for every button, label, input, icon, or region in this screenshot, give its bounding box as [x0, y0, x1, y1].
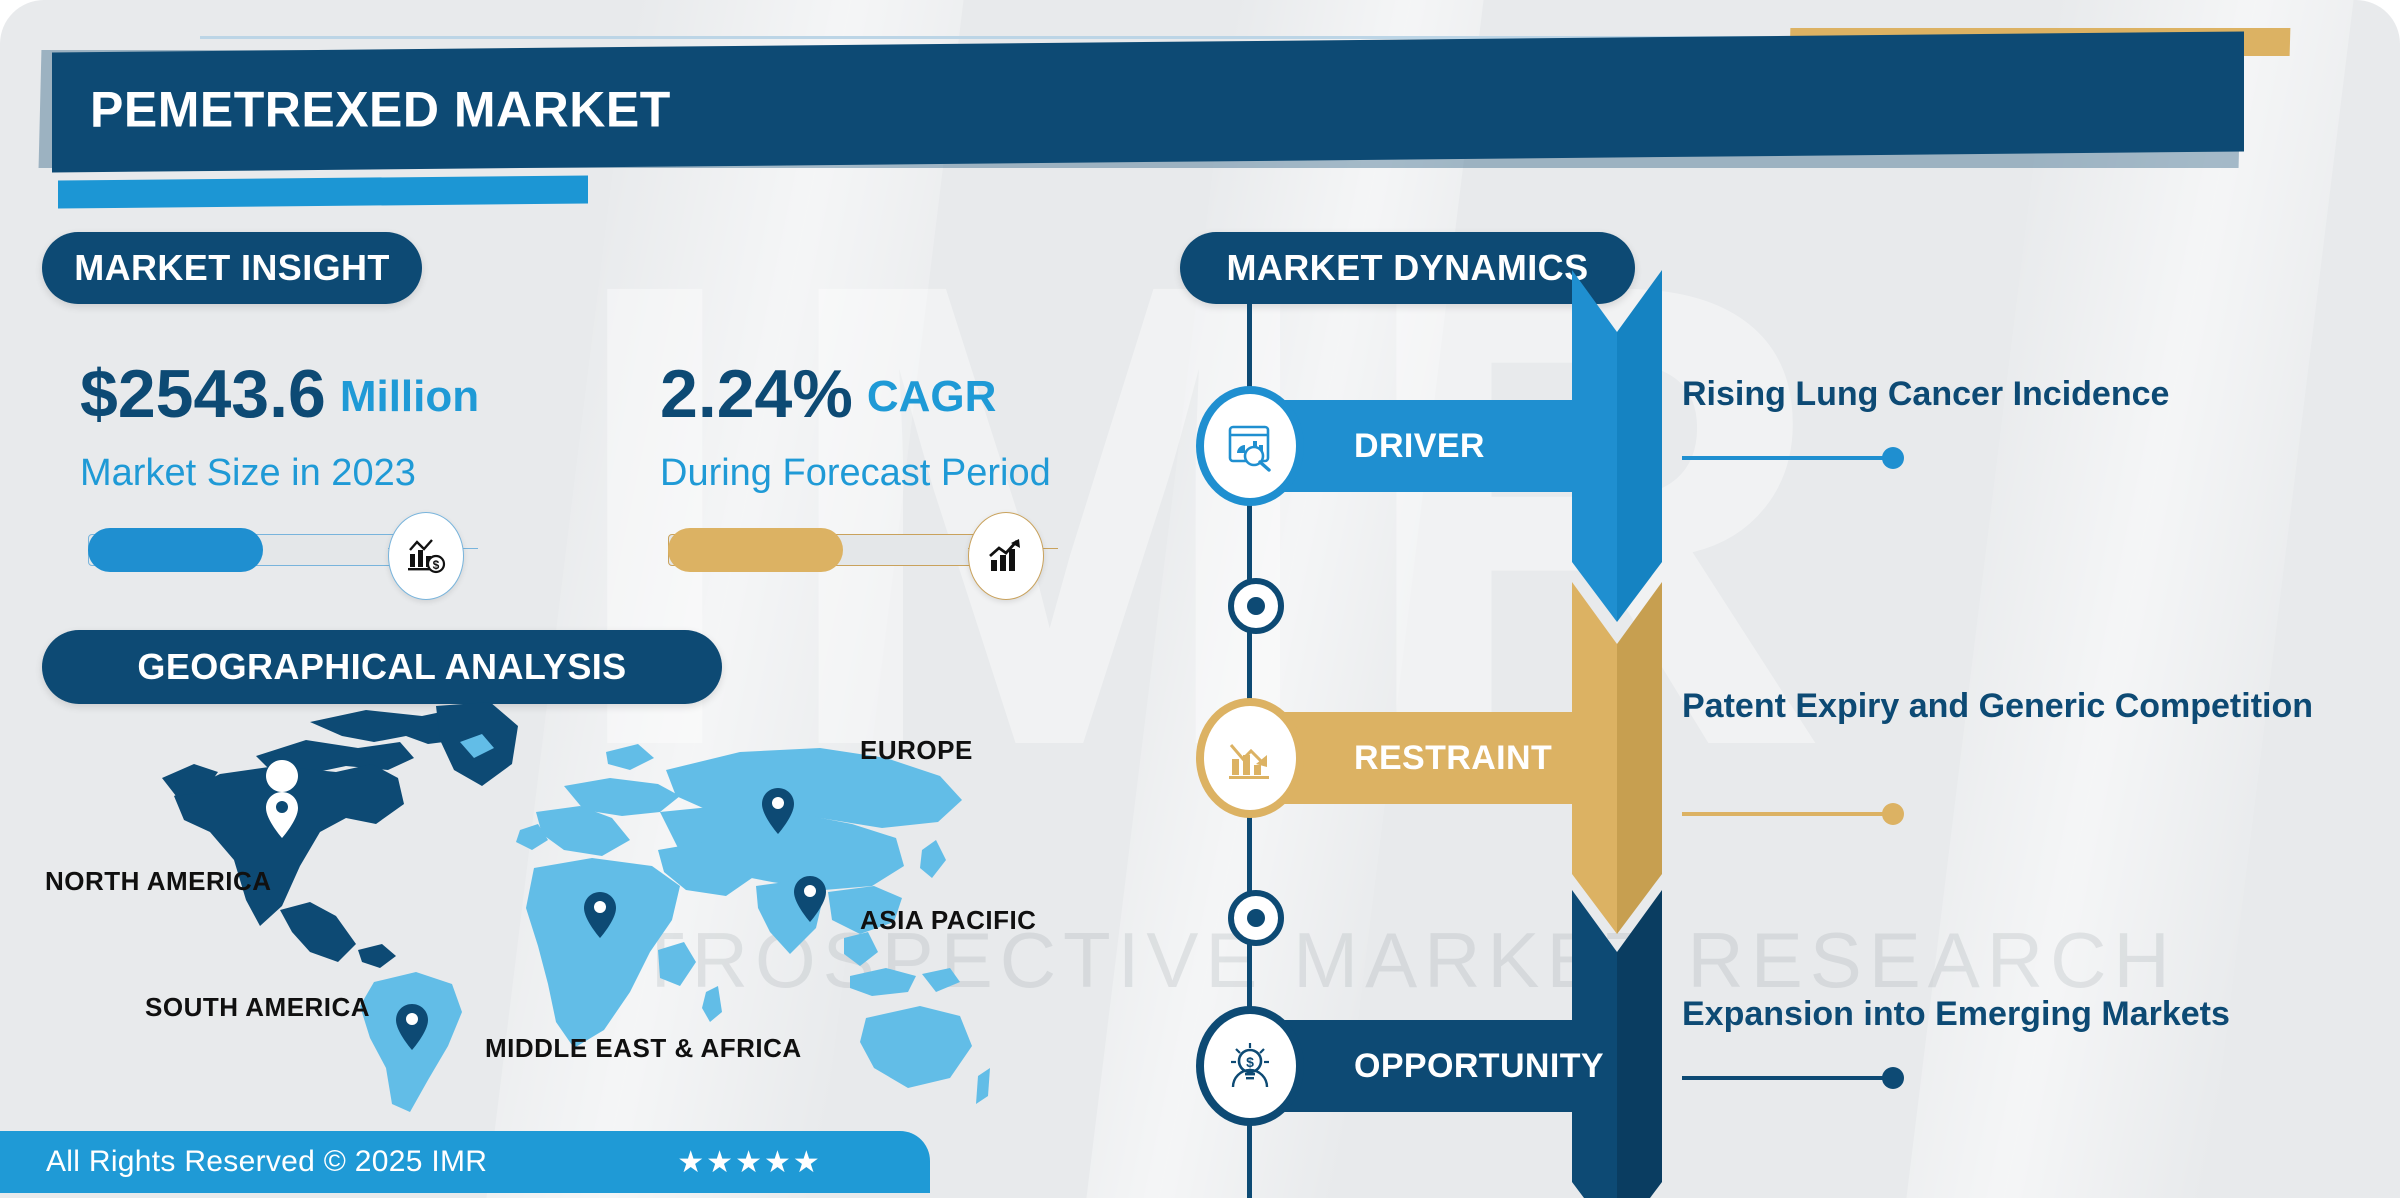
driver-rule [1682, 456, 1892, 460]
growth-arrow-icon [968, 512, 1044, 600]
metric-value: $2543.6 [80, 360, 326, 428]
metric-value: 2.24% [660, 360, 853, 428]
restraint-rule [1682, 812, 1892, 816]
header-underline-accent [58, 175, 588, 208]
declining-chart-icon [1204, 706, 1296, 810]
copyright-text: All Rights Reserved © 2025 IMR [46, 1145, 487, 1179]
opportunity-text: Expansion into Emerging Markets [1682, 994, 2372, 1035]
svg-text:$: $ [1246, 1054, 1254, 1070]
report-search-icon [1204, 394, 1296, 498]
map-label-south-america: SOUTH AMERICA [145, 992, 370, 1023]
header-bar: PEMETREXED MARKET [52, 31, 2244, 172]
chevron-banner-icon [1572, 582, 1662, 934]
market-size-progress [88, 528, 398, 572]
opportunity-end-dot [1882, 1067, 1904, 1089]
lightbulb-dollar-icon: $ [1204, 1014, 1296, 1118]
rating-stars: ★★★★★ [677, 1145, 821, 1180]
dynamics-item-opportunity: OPPORTUNITY $ Expansion into Emerging Ma… [1232, 1020, 1572, 1112]
timeline-node [1228, 890, 1284, 946]
driver-end-dot [1882, 447, 1904, 469]
map-label-asia-pacific: ASIA PACIFIC [860, 905, 1036, 936]
market-insight-label: MARKET INSIGHT [42, 232, 422, 304]
chevron-banner-icon [1572, 270, 1662, 622]
map-label-middle-east-africa: MIDDLE EAST & AFRICA [485, 1033, 802, 1064]
restraint-text: Patent Expiry and Generic Competition [1682, 686, 2372, 727]
timeline-node [1228, 578, 1284, 634]
geographical-analysis-label: GEOGRAPHICAL ANALYSIS [42, 630, 722, 704]
chevron-banner-icon [1572, 890, 1662, 1198]
driver-text: Rising Lung Cancer Incidence [1682, 374, 2372, 415]
metric-caption: Market Size in 2023 [80, 452, 479, 495]
metric-unit: CAGR [867, 372, 997, 422]
footer-bar: All Rights Reserved © 2025 IMR ★★★★★ [0, 1131, 930, 1193]
opportunity-rule [1682, 1076, 1892, 1080]
market-dynamics-label: MARKET DYNAMICS [1180, 232, 1635, 304]
infographic-canvas: IMR INTROSPECTIVE MARKET RESEARCH PEMETR… [0, 0, 2400, 1198]
map-label-north-america: NORTH AMERICA [45, 866, 272, 897]
svg-text:$: $ [433, 558, 440, 572]
progress-fill [668, 528, 843, 572]
metric-market-size: $2543.6Million Market Size in 2023 [80, 360, 479, 495]
metric-cagr: 2.24%CAGR During Forecast Period [660, 360, 1051, 495]
page-title: PEMETREXED MARKET [90, 80, 671, 138]
map-label-europe: EUROPE [860, 735, 973, 766]
background-sheen [1086, 0, 1483, 1198]
restraint-end-dot [1882, 803, 1904, 825]
metric-unit: Million [340, 372, 479, 422]
bar-chart-dollar-icon: $ [388, 512, 464, 600]
progress-fill [88, 528, 263, 572]
metric-caption: During Forecast Period [660, 452, 1051, 495]
dynamics-item-driver: DRIVER Rising Lung Cancer Incidence [1232, 400, 1572, 492]
dynamics-item-restraint: RESTRAINT Patent Expiry and Generic Comp… [1232, 712, 1572, 804]
cagr-progress [668, 528, 978, 572]
